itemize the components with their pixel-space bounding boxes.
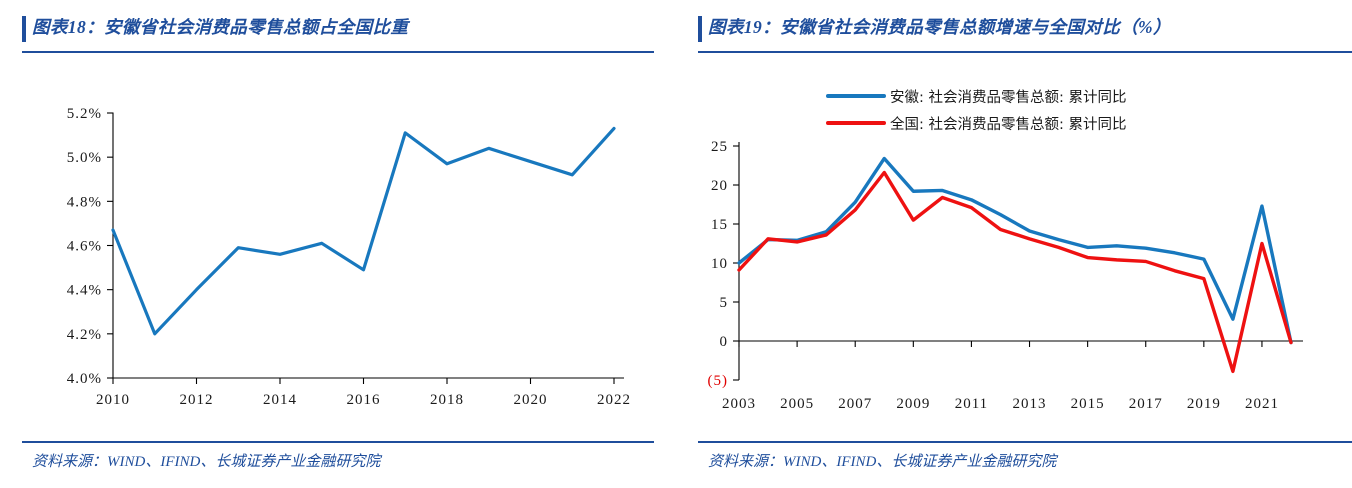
chart19-series bbox=[739, 158, 1291, 371]
x-tick-label: 2017 bbox=[1129, 396, 1163, 412]
chart18-ticklabels: 4.0%4.2%4.4%4.6%4.8%5.0%5.2%201020122014… bbox=[67, 106, 631, 408]
x-tick-label: 2010 bbox=[96, 392, 130, 408]
x-tick-label: 2013 bbox=[1013, 396, 1047, 412]
x-tick-label: 2022 bbox=[597, 392, 631, 408]
series-line bbox=[739, 158, 1291, 342]
source-divider bbox=[22, 441, 654, 443]
y-tick-label: 4.0% bbox=[67, 371, 102, 387]
figure-18-chart: 4.0%4.2%4.4%4.6%4.8%5.0%5.2%201020122014… bbox=[0, 60, 676, 430]
x-tick-label: 2016 bbox=[347, 392, 381, 408]
figure-18-source: 资料来源：WIND、IFIND、长城证券产业金融研究院 bbox=[32, 450, 380, 471]
chart19-legend: 安徽: 社会消费品零售总额: 累计同比全国: 社会消费品零售总额: 累计同比 bbox=[828, 89, 1127, 133]
y-tick-label: 5.0% bbox=[67, 150, 102, 166]
y-tick-label: 4.6% bbox=[67, 239, 102, 255]
figure-19-title: 图表19：安徽省社会消费品零售总额增速与全国对比（%） bbox=[708, 14, 1171, 39]
figure-page: 图表18：安徽省社会消费品零售总额占全国比重 4.0%4.2%4.4%4.6%4… bbox=[0, 0, 1352, 488]
chart18-series bbox=[113, 128, 614, 333]
axis-lines bbox=[113, 113, 624, 379]
x-tick-label: 2015 bbox=[1071, 396, 1105, 412]
source-divider bbox=[698, 441, 1352, 443]
accent-bar bbox=[22, 16, 26, 42]
figure-19-panel: 图表19：安徽省社会消费品零售总额增速与全国对比（%） 安徽: 社会消费品零售总… bbox=[676, 0, 1352, 488]
series-line bbox=[113, 128, 614, 333]
chart19-canvas: 安徽: 社会消费品零售总额: 累计同比全国: 社会消费品零售总额: 累计同比 2… bbox=[676, 60, 1352, 430]
figure-19-chart: 安徽: 社会消费品零售总额: 累计同比全国: 社会消费品零售总额: 累计同比 2… bbox=[676, 60, 1352, 430]
y-tick-label: 5 bbox=[720, 295, 729, 311]
y-tick-label: (5) bbox=[708, 373, 729, 389]
title-divider bbox=[698, 51, 1352, 53]
x-tick-label: 2011 bbox=[955, 396, 988, 412]
x-tick-label: 2014 bbox=[263, 392, 297, 408]
y-tick-label: 4.8% bbox=[67, 194, 102, 210]
figure-19-source: 资料来源：WIND、IFIND、长城证券产业金融研究院 bbox=[708, 450, 1056, 471]
x-tick-label: 2021 bbox=[1245, 396, 1279, 412]
x-tick-label: 2003 bbox=[722, 396, 756, 412]
y-tick-label: 20 bbox=[711, 178, 728, 194]
y-tick-label: 4.4% bbox=[67, 283, 102, 299]
x-tick-label: 2018 bbox=[430, 392, 464, 408]
x-tick-label: 2020 bbox=[514, 392, 548, 408]
legend-label: 全国: 社会消费品零售总额: 累计同比 bbox=[890, 115, 1127, 133]
x-tick-label: 2005 bbox=[780, 396, 814, 412]
figure-18-header: 图表18：安徽省社会消费品零售总额占全国比重 bbox=[22, 14, 668, 52]
accent-bar bbox=[698, 16, 702, 42]
chart18-axes bbox=[107, 113, 624, 385]
figure-18-title: 图表18：安徽省社会消费品零售总额占全国比重 bbox=[32, 14, 408, 39]
x-tick-label: 2012 bbox=[180, 392, 214, 408]
x-tick-label: 2009 bbox=[896, 396, 930, 412]
figure-19-header: 图表19：安徽省社会消费品零售总额增速与全国对比（%） bbox=[698, 14, 1344, 52]
chart18-canvas: 4.0%4.2%4.4%4.6%4.8%5.0%5.2%201020122014… bbox=[0, 60, 676, 430]
x-tick-label: 2007 bbox=[838, 396, 872, 412]
y-tick-label: 15 bbox=[711, 217, 728, 233]
y-tick-label: 10 bbox=[711, 256, 728, 272]
y-tick-label: 0 bbox=[720, 334, 729, 350]
figure-18-panel: 图表18：安徽省社会消费品零售总额占全国比重 4.0%4.2%4.4%4.6%4… bbox=[0, 0, 676, 488]
y-tick-label: 5.2% bbox=[67, 106, 102, 122]
y-tick-label: 25 bbox=[711, 139, 728, 155]
y-tick-label: 4.2% bbox=[67, 327, 102, 343]
title-divider bbox=[22, 51, 654, 53]
legend-label: 安徽: 社会消费品零售总额: 累计同比 bbox=[890, 89, 1127, 106]
chart19-axes bbox=[733, 142, 1303, 380]
x-tick-label: 2019 bbox=[1187, 396, 1221, 412]
